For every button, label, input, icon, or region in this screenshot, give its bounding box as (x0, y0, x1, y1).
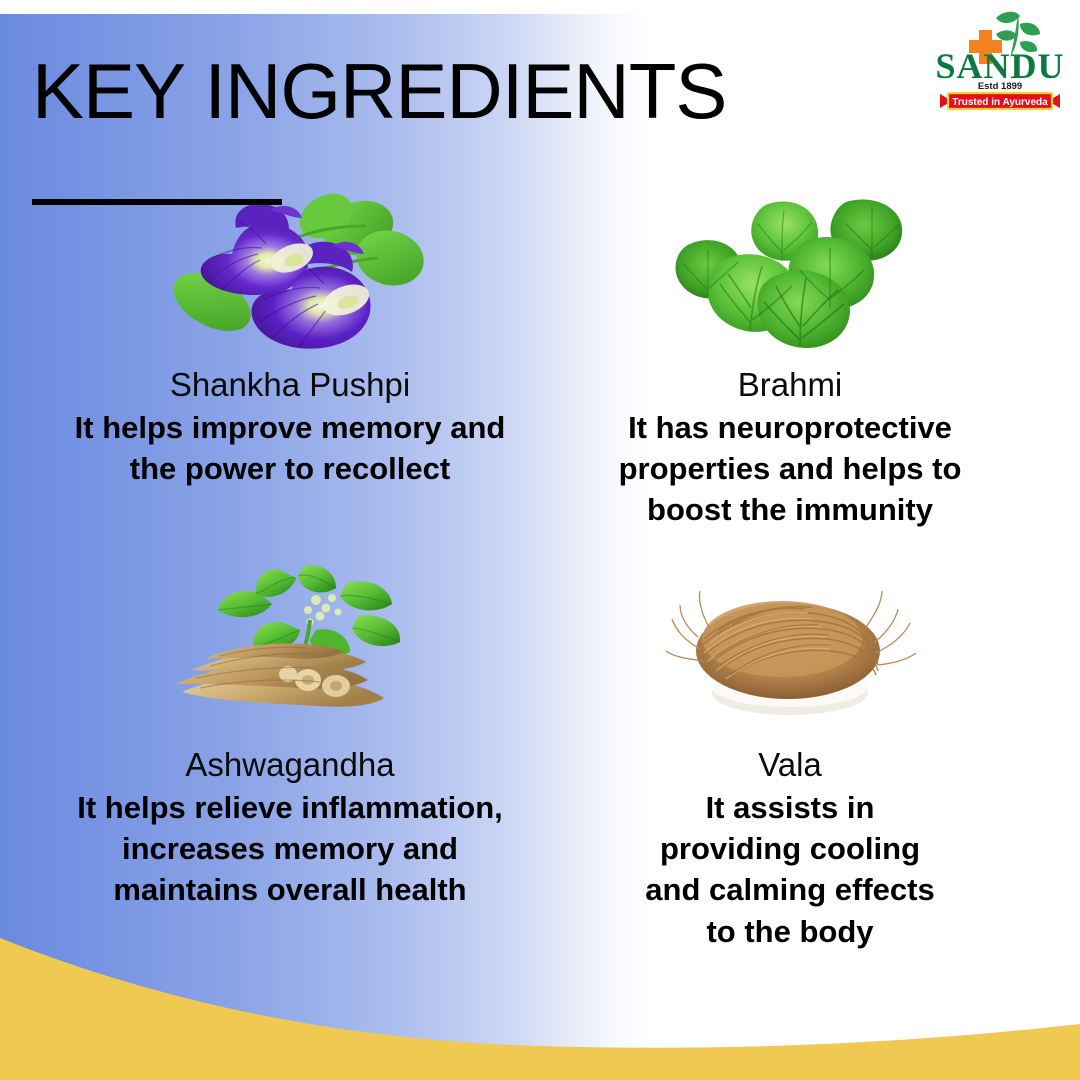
svg-text:Trusted in Ayurveda: Trusted in Ayurveda (952, 97, 1048, 108)
tagline-ribbon: Trusted in Ayurveda (940, 93, 1060, 109)
sandu-brand-logo[interactable]: SANDU Estd 1899 Trusted in Ayurveda (934, 6, 1066, 110)
butterfly-pea-flower-image (60, 180, 520, 360)
ingredient-card-ashwagandha: Ashwagandha It helps relieve inflammatio… (60, 560, 520, 911)
ingredient-description: It helps relieve inflammation, increases… (60, 787, 520, 911)
ingredient-description: It has neuroprotective properties and he… (560, 407, 1020, 531)
ingredient-description: It assists in providing cooling and calm… (560, 787, 1020, 952)
established-text: Estd 1899 (978, 81, 1022, 92)
ingredient-card-brahmi: Brahmi It has neuroprotective properties… (560, 180, 1020, 531)
top-white-strip (0, 0, 1080, 14)
page-title-block: KEY INGREDIENTS (32, 52, 726, 130)
ashwagandha-roots-and-leaves-image (60, 560, 520, 740)
page-title: KEY INGREDIENTS (32, 52, 726, 130)
vala-vetiver-roots-image (560, 560, 1020, 740)
ingredient-name: Shankha Pushpi (60, 366, 520, 405)
svg-text:SANDU: SANDU (935, 46, 1064, 86)
ingredient-name: Brahmi (560, 366, 1020, 405)
ingredient-description: It helps improve memory and the power to… (60, 407, 520, 489)
ingredients-grid: Shankha Pushpi It helps improve memory a… (0, 170, 1080, 970)
ingredient-card-shankha-pushpi: Shankha Pushpi It helps improve memory a… (60, 180, 520, 489)
key-ingredients-poster: KEY INGREDIENTS SANDU Estd 1899 (0, 0, 1080, 1080)
ingredient-card-vala: Vala It assists in providing cooling and… (560, 560, 1020, 952)
ingredient-name: Ashwagandha (60, 746, 520, 785)
brand-wordmark: SANDU (935, 46, 1064, 86)
brahmi-gotu-kola-leaves-image (560, 180, 1020, 360)
title-underline (32, 199, 282, 205)
ingredient-name: Vala (560, 746, 1020, 785)
